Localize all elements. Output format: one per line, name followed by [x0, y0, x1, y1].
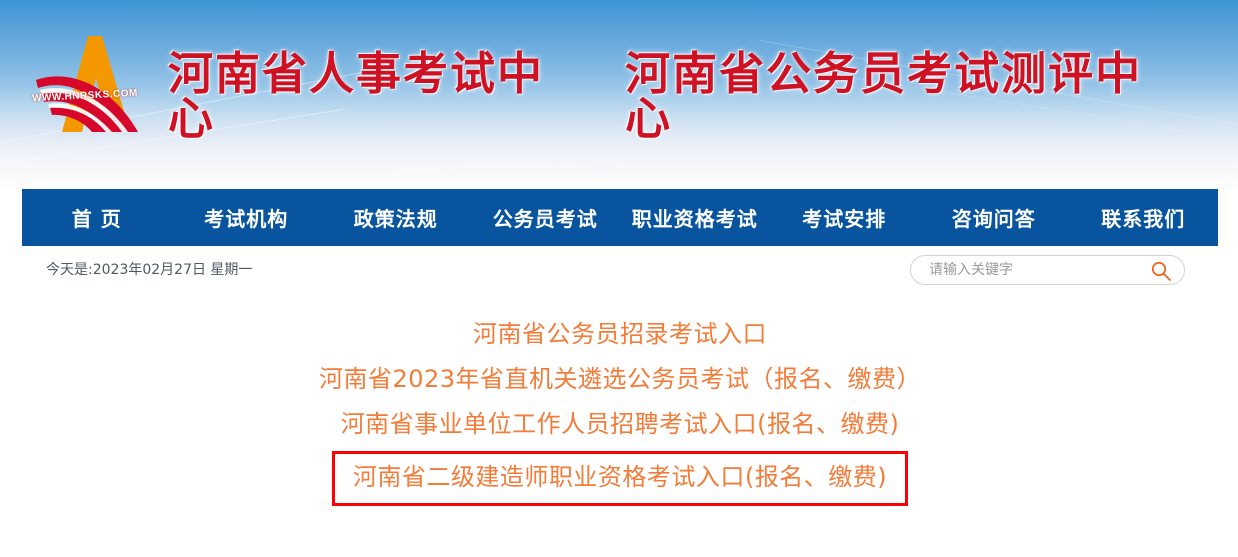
link-2023-provincial-selection-exam[interactable]: 河南省2023年省直机关遴选公务员考试（报名、缴费）: [319, 362, 921, 397]
page-title-secondary: 河南省公务员考试测评中心: [625, 51, 1168, 141]
nav-item-home[interactable]: 首 页: [22, 203, 172, 232]
page-title-primary: 河南省人事考试中心: [168, 51, 575, 141]
banner-title-group: 河南省人事考试中心 河南省公务员考试测评中心: [168, 60, 1168, 132]
search-box: [910, 255, 1185, 285]
entry-link-list: 河南省公务员招录考试入口 河南省2023年省直机关遴选公务员考试（报名、缴费） …: [22, 317, 1218, 516]
highlight-box: 河南省二级建造师职业资格考试入口(报名、缴费): [332, 451, 908, 506]
search-icon[interactable]: [1150, 260, 1172, 282]
nav-item-policy[interactable]: 政策法规: [321, 203, 471, 232]
search-input[interactable]: [929, 256, 1134, 284]
nav-item-civil-servant[interactable]: 公务员考试: [471, 203, 621, 232]
site-banner: WWW.HNRSKS.COM 河南省人事考试中心 河南省公务员考试测评中心: [0, 0, 1238, 189]
nav-item-exam-agency[interactable]: 考试机构: [172, 203, 322, 232]
list-item: 河南省2023年省直机关遴选公务员考试（报名、缴费）: [22, 362, 1218, 397]
banner-streak: [300, 139, 999, 177]
nav-item-contact[interactable]: 联系我们: [1069, 203, 1219, 232]
list-item-highlighted: 河南省二级建造师职业资格考试入口(报名、缴费): [22, 451, 1218, 506]
link-civil-servant-recruitment-entry[interactable]: 河南省公务员招录考试入口: [473, 317, 767, 352]
nav-item-exam-schedule[interactable]: 考试安排: [770, 203, 920, 232]
current-date-label: 今天是:2023年02月27日 星期一: [46, 259, 252, 279]
list-item: 河南省事业单位工作人员招聘考试入口(报名、缴费): [22, 407, 1218, 442]
nav-item-faq[interactable]: 咨询问答: [919, 203, 1069, 232]
site-logo[interactable]: WWW.HNRSKS.COM: [26, 28, 162, 143]
list-item: 河南省公务员招录考试入口: [22, 317, 1218, 352]
link-public-institution-recruitment-entry[interactable]: 河南省事业单位工作人员招聘考试入口(报名、缴费): [341, 407, 900, 442]
utility-bar: 今天是:2023年02月27日 星期一: [22, 246, 1218, 293]
nav-item-vocational[interactable]: 职业资格考试: [620, 203, 770, 232]
content-sheet: 首 页 考试机构 政策法规 公务员考试 职业资格考试 考试安排 咨询问答 联系我…: [22, 189, 1238, 557]
link-level2-constructor-exam-entry[interactable]: 河南省二级建造师职业资格考试入口(报名、缴费): [353, 460, 887, 495]
main-navigation: 首 页 考试机构 政策法规 公务员考试 职业资格考试 考试安排 咨询问答 联系我…: [22, 189, 1218, 246]
